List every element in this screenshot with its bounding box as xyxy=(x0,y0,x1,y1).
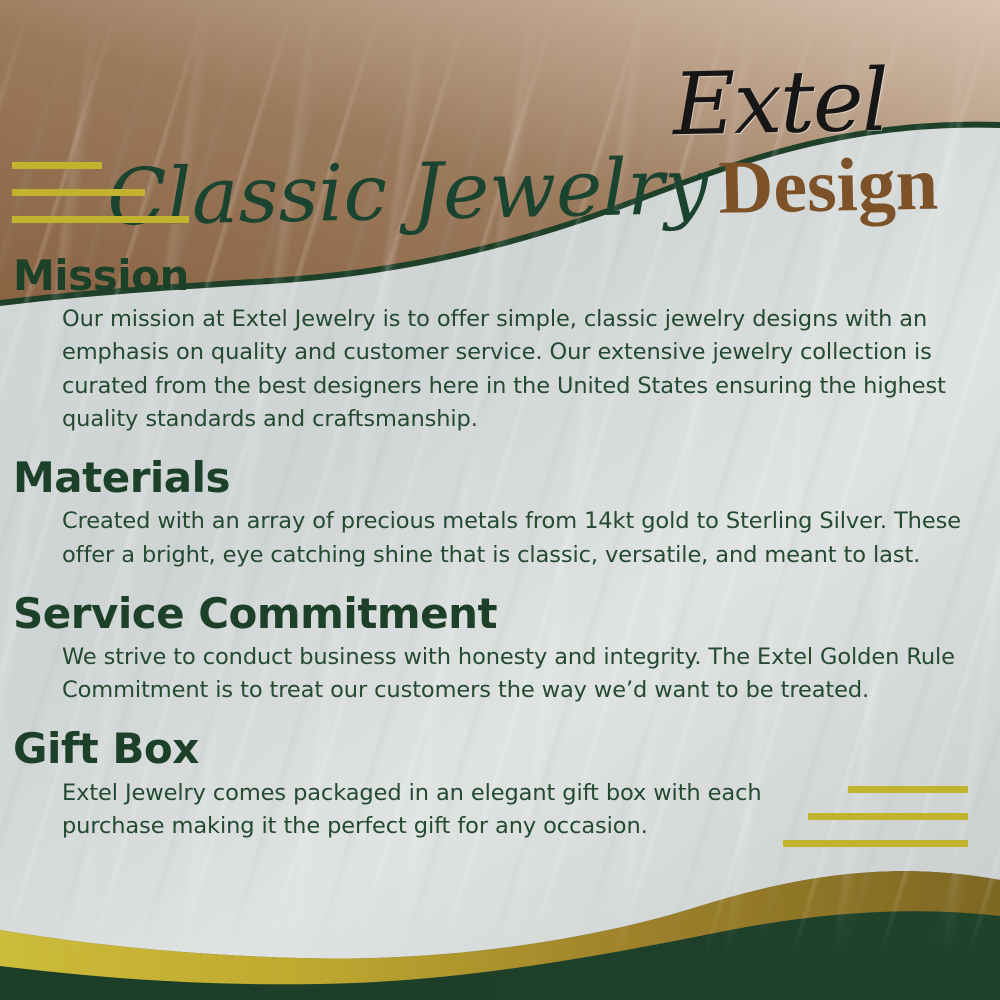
decor-rule xyxy=(12,216,189,223)
section-service-commitment: Service Commitment We strive to conduct … xyxy=(0,590,1000,708)
section-heading-mission: Mission xyxy=(13,252,1000,299)
section-body-materials: Created with an array of precious metals… xyxy=(62,505,970,572)
section-body-gift-box: Extel Jewelry comes packaged in an elega… xyxy=(62,777,762,844)
section-gift-box: Gift Box Extel Jewelry comes packaged in… xyxy=(0,725,1000,843)
sections-list: Mission Our mission at Extel Jewelry is … xyxy=(0,252,1000,843)
section-heading-service-commitment: Service Commitment xyxy=(13,590,1000,637)
poster-content: Extel Classic JewelryDesign Mission Our … xyxy=(0,0,1000,1000)
brand-logo: Extel xyxy=(599,56,961,150)
section-heading-gift-box: Gift Box xyxy=(13,725,1000,772)
section-heading-materials: Materials xyxy=(13,454,1000,501)
poster-canvas: Extel Classic JewelryDesign Mission Our … xyxy=(0,0,1000,1000)
section-materials: Materials Created with an array of preci… xyxy=(0,454,1000,572)
section-mission: Mission Our mission at Extel Jewelry is … xyxy=(0,252,1000,436)
decor-rule xyxy=(12,189,145,196)
section-body-mission: Our mission at Extel Jewelry is to offer… xyxy=(62,303,970,436)
section-body-service-commitment: We strive to conduct business with hones… xyxy=(62,641,970,708)
headline-serif-text: Design xyxy=(718,142,939,230)
headline-script-text: Classic Jewelry xyxy=(106,142,709,244)
decor-rule xyxy=(12,162,102,169)
decor-rules-top-left xyxy=(12,162,189,243)
